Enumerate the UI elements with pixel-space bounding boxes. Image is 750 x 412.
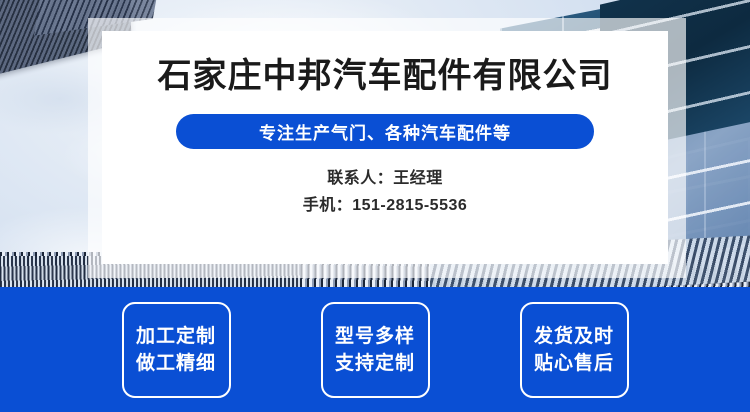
feature-box-3-line-2: 贴心售后 — [534, 353, 614, 375]
feature-strip: 加工定制 做工精细 型号多样 支持定制 发货及时 贴心售后 — [0, 287, 750, 412]
feature-box-2[interactable]: 型号多样 支持定制 — [321, 302, 430, 398]
feature-box-1[interactable]: 加工定制 做工精细 — [122, 302, 231, 398]
feature-box-1-line-2: 做工精细 — [136, 353, 216, 375]
promo-banner: 石家庄中邦汽车配件有限公司 专注生产气门、各种汽车配件等 联系人：王经理 手机：… — [0, 0, 750, 412]
feature-box-2-line-1: 型号多样 — [335, 326, 415, 348]
slogan-text: 专注生产气门、各种汽车配件等 — [259, 119, 511, 144]
slogan-pill: 专注生产气门、各种汽车配件等 — [176, 114, 594, 149]
page-title: 石家庄中邦汽车配件有限公司 — [158, 31, 613, 95]
feature-box-3-line-1: 发货及时 — [534, 326, 614, 348]
feature-box-3[interactable]: 发货及时 贴心售后 — [520, 302, 629, 398]
company-info-card: 石家庄中邦汽车配件有限公司 专注生产气门、各种汽车配件等 联系人：王经理 手机：… — [102, 31, 668, 264]
contact-phone-line: 手机：151-2815-5536 — [303, 193, 468, 219]
feature-box-2-line-2: 支持定制 — [335, 353, 415, 375]
contact-person-line: 联系人：王经理 — [303, 166, 468, 192]
contact-block: 联系人：王经理 手机：151-2815-5536 — [303, 166, 468, 219]
feature-list: 加工定制 做工精细 型号多样 支持定制 发货及时 贴心售后 — [0, 302, 750, 398]
feature-box-1-line-1: 加工定制 — [136, 326, 216, 348]
